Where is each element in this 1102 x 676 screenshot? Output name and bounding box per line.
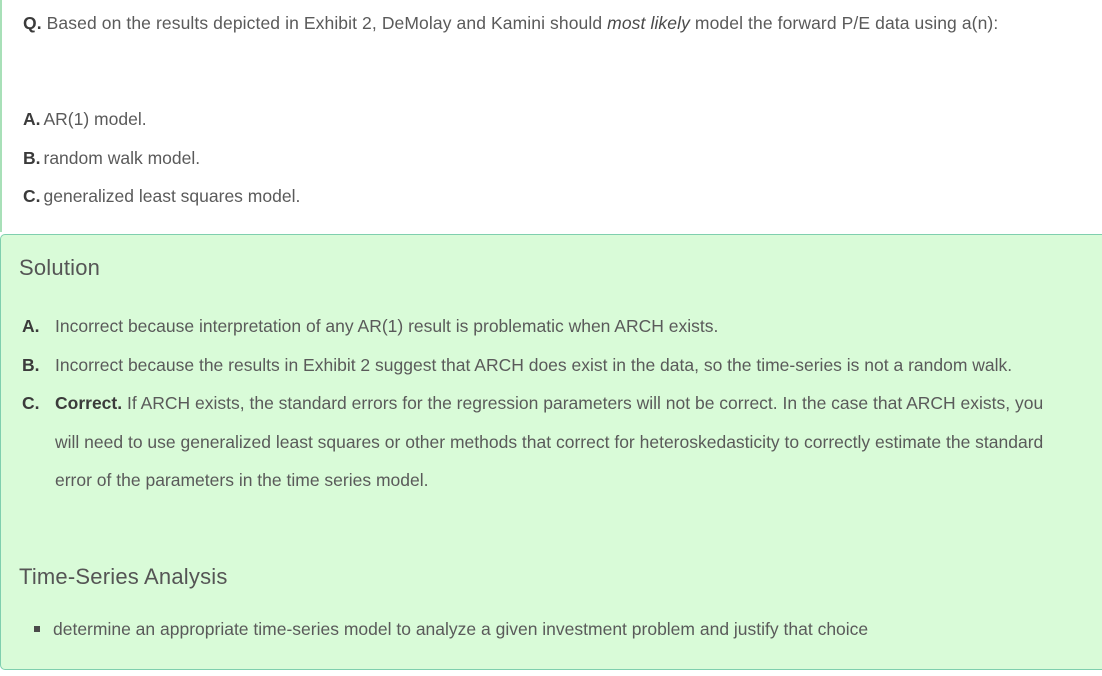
answer-choice-b-label: B. (23, 148, 41, 168)
topic-bullet-text: determine an appropriate time-series mod… (53, 619, 868, 639)
answer-choice-b-text: random walk model. (44, 148, 201, 168)
solution-item-b-text: Incorrect because the results in Exhibit… (55, 355, 1012, 375)
solution-heading: Solution (19, 255, 100, 281)
question-stem: Q. Based on the results depicted in Exhi… (23, 4, 1069, 43)
topic-learning-outcome-list: determine an appropriate time-series mod… (34, 614, 1074, 644)
answer-choice-b[interactable]: B.random walk model. (23, 139, 923, 178)
question-label: Q. (23, 13, 42, 33)
solution-item-a-label: A. (22, 307, 40, 346)
answer-choice-c-label: C. (23, 186, 41, 206)
answer-choice-a-text: AR(1) model. (44, 109, 147, 129)
answer-choice-list: A.AR(1) model. B.random walk model. C.ge… (23, 100, 923, 216)
solution-item-c: C.Correct. If ARCH exists, the standard … (22, 384, 1067, 500)
solution-item-b: B.Incorrect because the results in Exhib… (22, 346, 1067, 385)
solution-explanation-list: A.Incorrect because interpretation of an… (22, 307, 1067, 500)
solution-item-c-text: If ARCH exists, the standard errors for … (55, 393, 1043, 490)
solution-panel: Solution A.Incorrect because interpretat… (0, 234, 1102, 670)
question-text-part-1: Based on the results depicted in Exhibit… (47, 13, 608, 33)
list-item: determine an appropriate time-series mod… (34, 614, 1074, 644)
square-bullet-icon (34, 626, 40, 632)
question-text-part-2: model the forward P/E data using a(n): (690, 13, 998, 33)
exam-question-page: Q. Based on the results depicted in Exhi… (0, 0, 1102, 676)
solution-item-a-text: Incorrect because interpretation of any … (55, 316, 718, 336)
solution-item-a: A.Incorrect because interpretation of an… (22, 307, 1067, 346)
answer-choice-c[interactable]: C.generalized least squares model. (23, 177, 923, 216)
answer-choice-a[interactable]: A.AR(1) model. (23, 100, 923, 139)
question-panel: Q. Based on the results depicted in Exhi… (0, 0, 1102, 232)
answer-choice-a-label: A. (23, 109, 41, 129)
topic-heading: Time-Series Analysis (19, 564, 228, 590)
answer-choice-c-text: generalized least squares model. (44, 186, 301, 206)
solution-item-c-correct-badge: Correct. (55, 393, 122, 413)
solution-item-c-label: C. (22, 384, 40, 423)
question-emphasis-most-likely: most likely (607, 13, 690, 33)
solution-item-b-label: B. (22, 346, 40, 385)
